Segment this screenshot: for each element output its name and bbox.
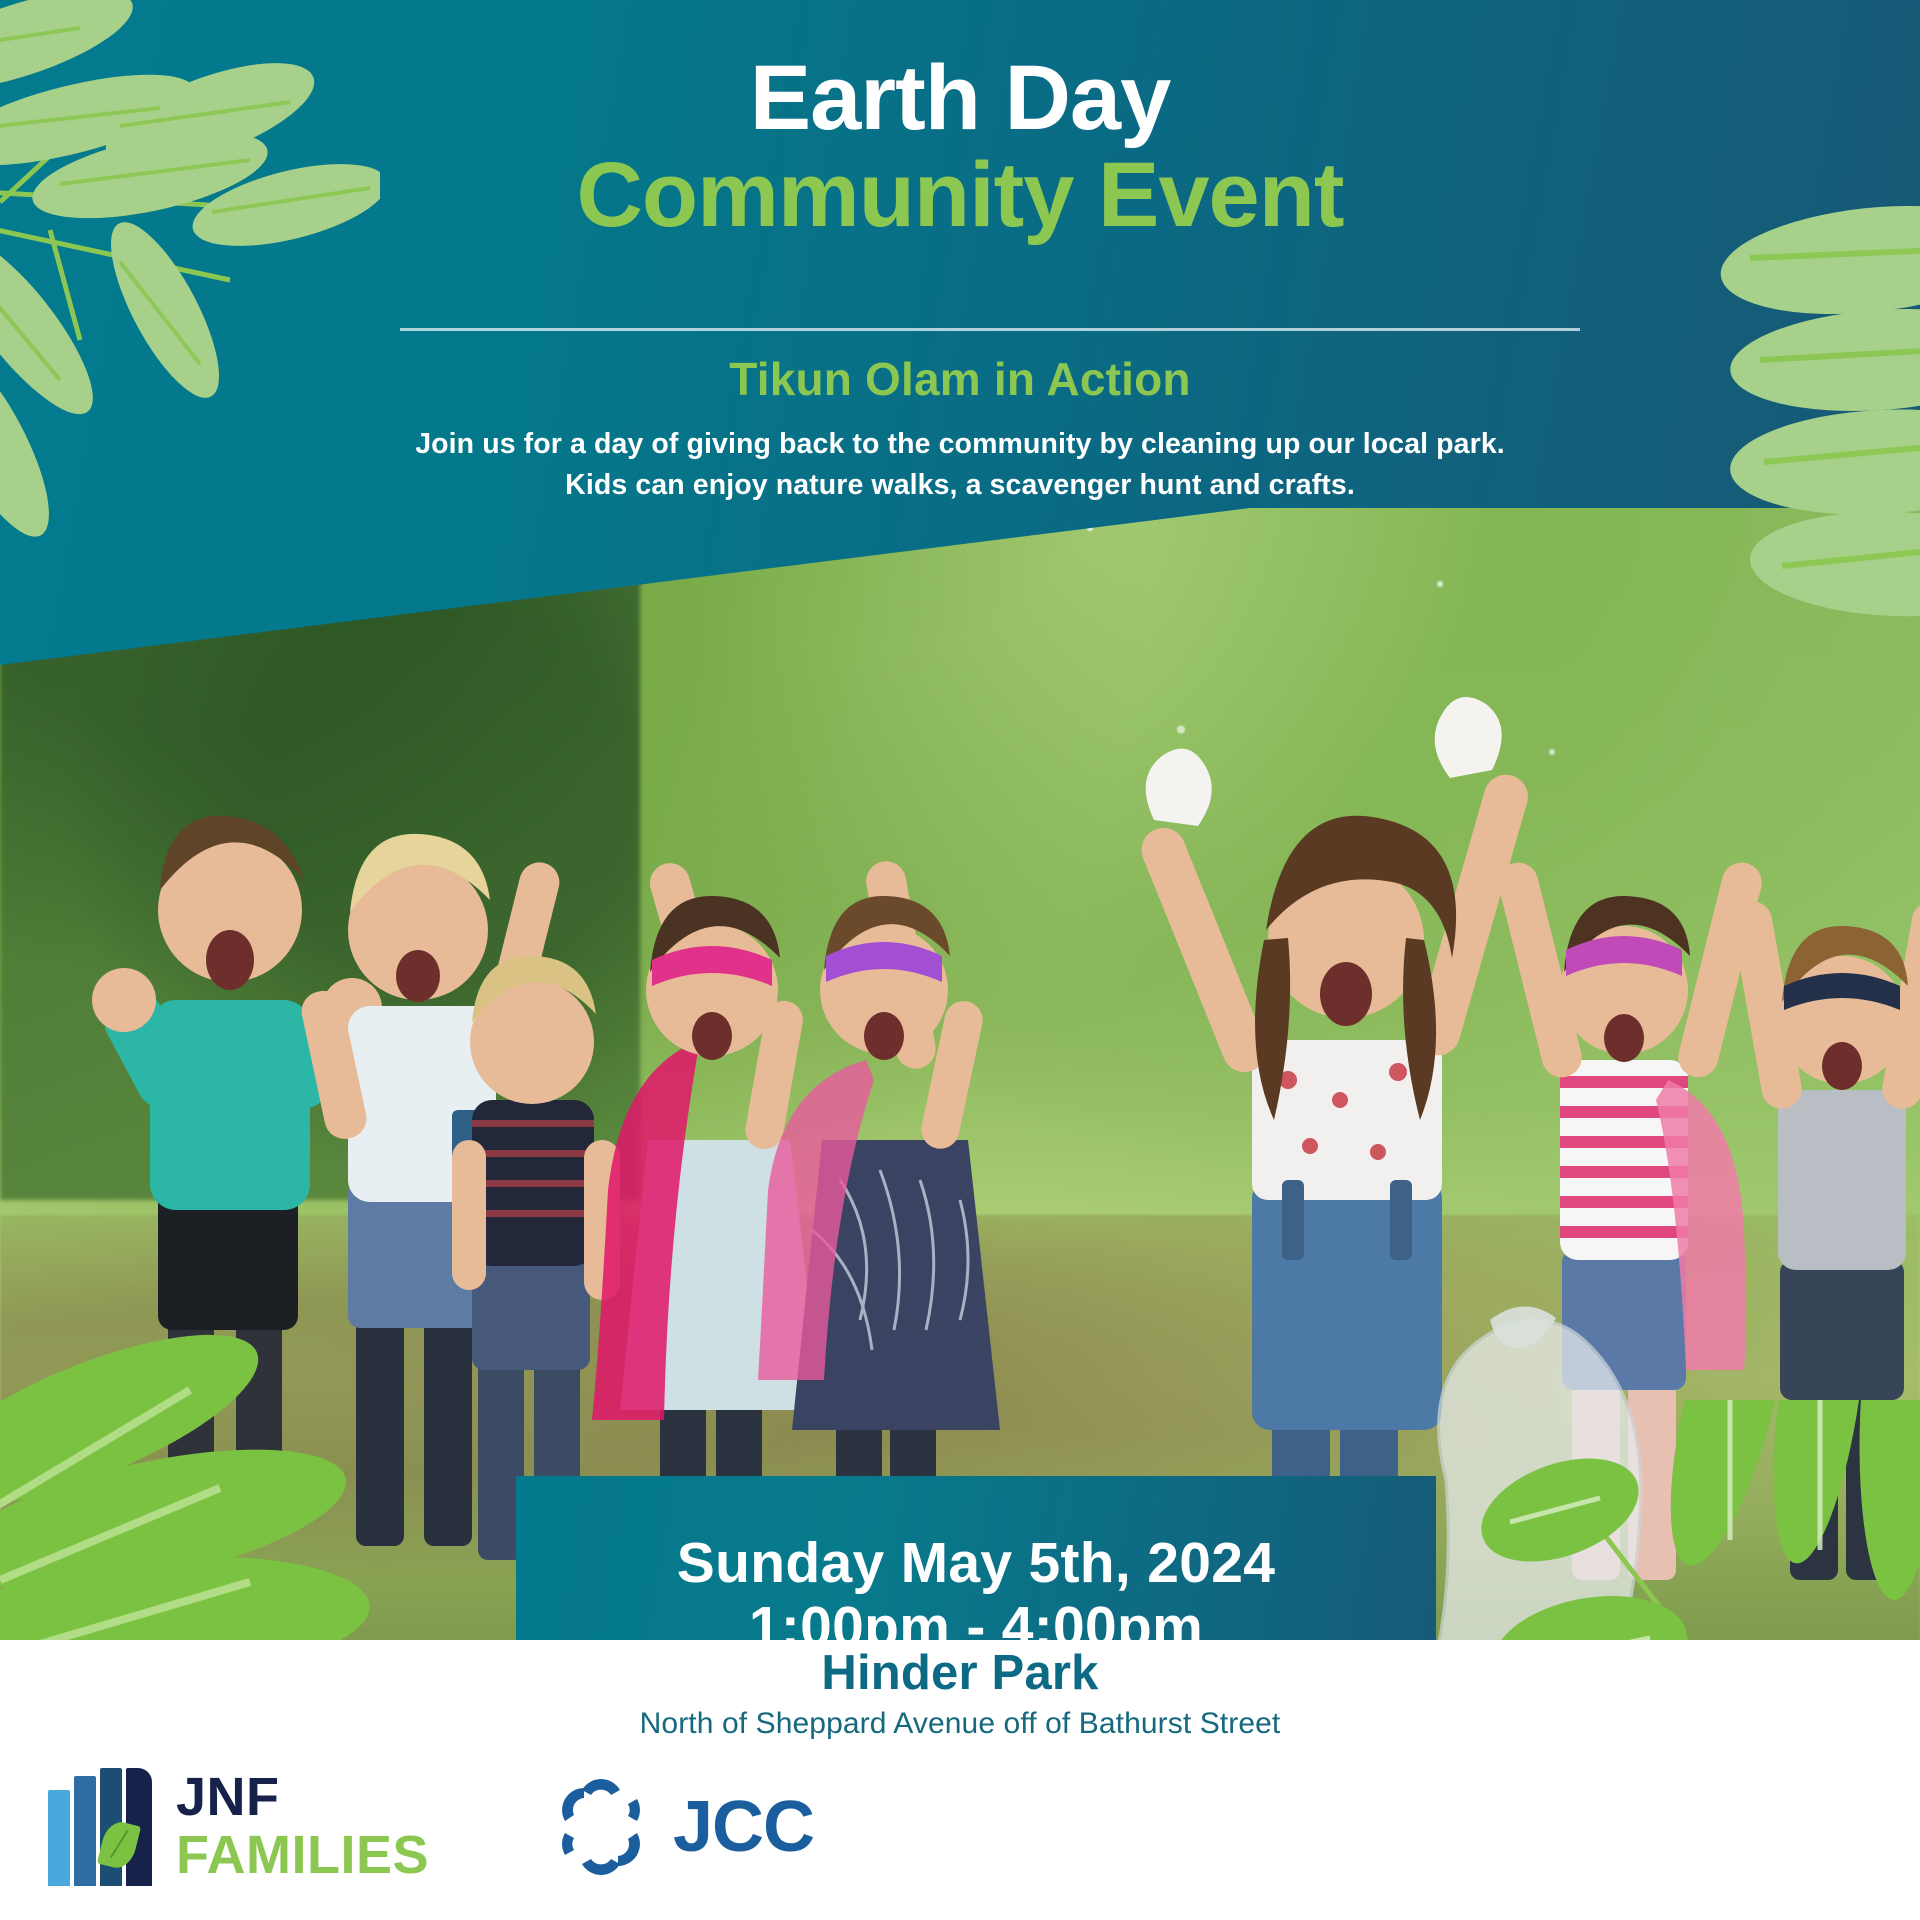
jnf-families-logo: JNF FAMILIES xyxy=(48,1768,429,1886)
description-line-1: Join us for a day of giving back to the … xyxy=(0,424,1920,465)
poster-description: Join us for a day of giving back to the … xyxy=(0,424,1920,507)
jnf-logo-line-1: JNF xyxy=(176,1770,429,1824)
poster-subtitle: Tikun Olam in Action xyxy=(0,352,1920,406)
jcc-logo: JCC xyxy=(549,1775,814,1879)
description-line-2: Kids can enjoy nature walks, a scavenger… xyxy=(0,465,1920,506)
jnf-logo-line-2: FAMILIES xyxy=(176,1828,429,1882)
jcc-wordmark: JCC xyxy=(673,1791,814,1863)
venue-name: Hinder Park xyxy=(0,1645,1920,1701)
event-poster: Earth Day Community Event Tikun Olam in … xyxy=(0,0,1920,1920)
title-line-2: Community Event xyxy=(0,146,1920,245)
event-date: Sunday May 5th, 2024 xyxy=(677,1532,1275,1596)
poster-title: Earth Day Community Event xyxy=(0,52,1920,245)
venue-block: Hinder Park North of Sheppard Avenue off… xyxy=(0,1645,1920,1741)
jnf-wordmark: JNF FAMILIES xyxy=(176,1770,429,1886)
logo-row: JNF FAMILIES JCC xyxy=(48,1768,814,1886)
title-line-1: Earth Day xyxy=(0,52,1920,146)
jnf-bars-leaf-icon xyxy=(48,1768,156,1886)
jcc-hexagon-icon xyxy=(549,1775,653,1879)
venue-address: North of Sheppard Avenue off of Bathurst… xyxy=(0,1707,1920,1741)
title-divider xyxy=(400,328,1580,331)
